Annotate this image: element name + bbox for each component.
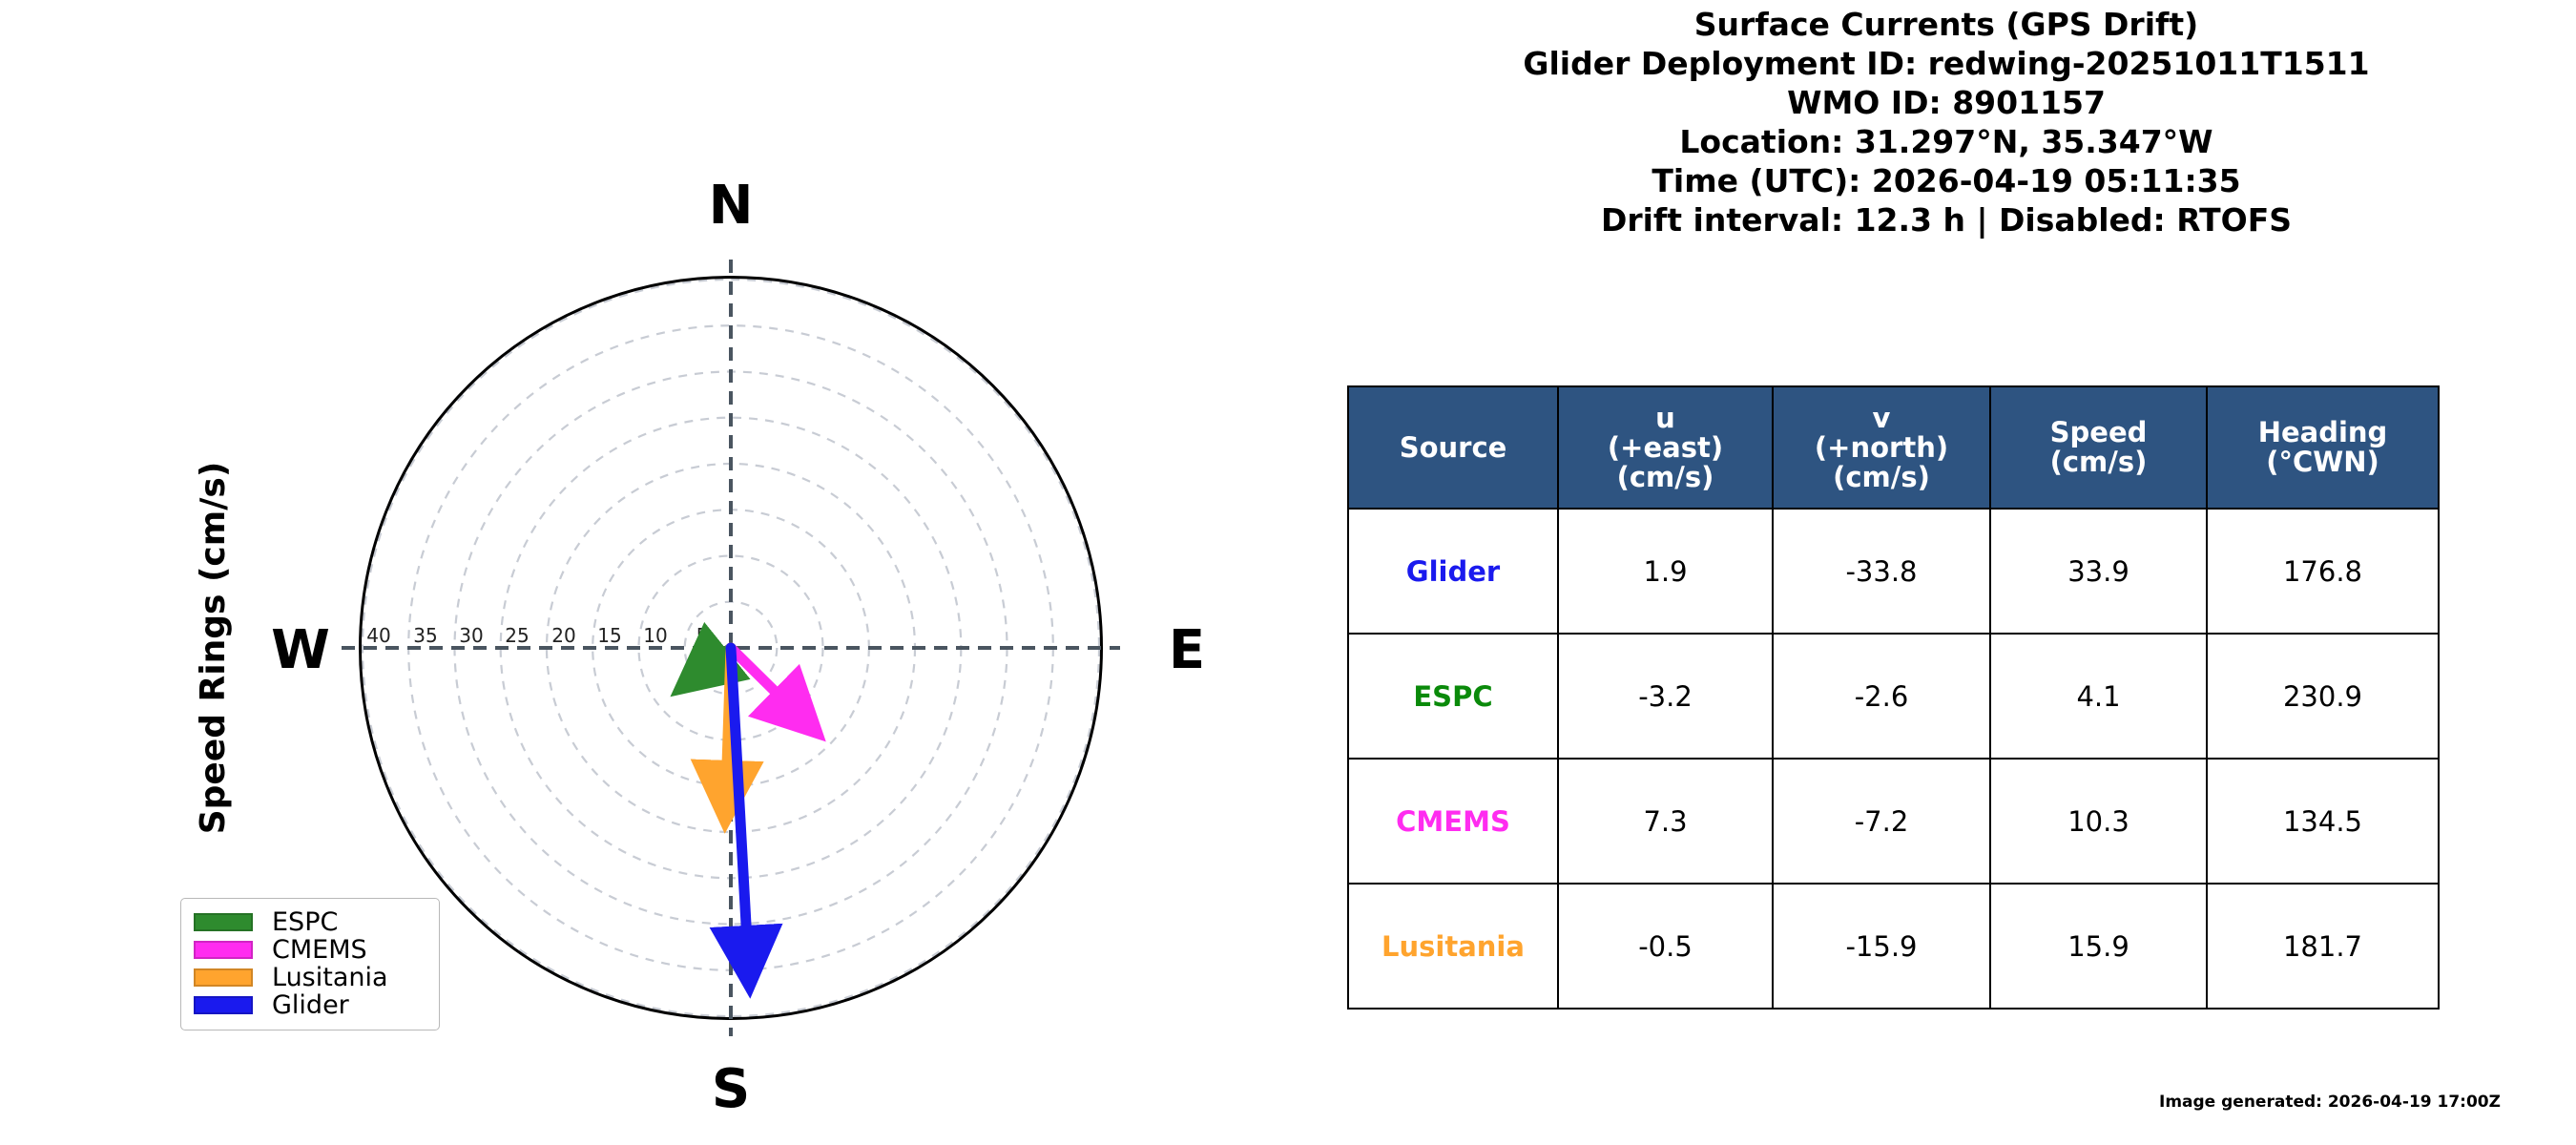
column-header-v-sub1: (+north) — [1776, 433, 1987, 463]
radial-tick-20: 20 — [551, 624, 575, 647]
location-line: Location: 31.297°N, 35.347°W — [1326, 127, 2566, 157]
column-header-heading[interactable]: Heading (°CWN) — [2207, 386, 2439, 509]
table-header-row: Source u (+east) (cm/s) v (+north) (cm/s… — [1348, 386, 2439, 509]
radial-tick-30: 30 — [459, 624, 483, 647]
column-header-u-label: u — [1561, 404, 1770, 433]
table-row: Glider 1.9 -33.8 33.9 176.8 — [1348, 509, 2439, 634]
column-header-source-label: Source — [1351, 433, 1555, 463]
column-header-source[interactable]: Source — [1348, 386, 1558, 509]
column-header-speed[interactable]: Speed (cm/s) — [1990, 386, 2207, 509]
row-cmems-u: 7.3 — [1558, 759, 1773, 884]
compass-label-south: S — [712, 1058, 750, 1120]
row-espc-heading: 230.9 — [2207, 634, 2439, 759]
deployment-id-line: Glider Deployment ID: redwing-20251011T1… — [1326, 49, 2566, 79]
table-row: ESPC -3.2 -2.6 4.1 230.9 — [1348, 634, 2439, 759]
radial-tick-15: 15 — [597, 624, 621, 647]
wmo-id-line: WMO ID: 8901157 — [1326, 88, 2566, 118]
legend-item-lusitania[interactable]: Lusitania — [194, 964, 426, 990]
column-header-v-label: v — [1776, 404, 1987, 433]
legend-label-cmems: CMEMS — [272, 937, 367, 963]
column-header-heading-label: Heading — [2210, 418, 2436, 448]
legend-swatch-cmems — [194, 941, 253, 959]
radial-tick-labels: 40 35 30 25 20 15 10 5 — [366, 624, 708, 647]
row-source-cmems: CMEMS — [1348, 759, 1558, 884]
column-header-v[interactable]: v (+north) (cm/s) — [1773, 386, 1990, 509]
vector-arrow-glider — [731, 648, 748, 959]
image-generated-note: Image generated: 2026-04-19 17:00Z — [2159, 1093, 2501, 1112]
legend-item-glider[interactable]: Glider — [194, 991, 426, 1018]
row-lusitania-heading: 181.7 — [2207, 884, 2439, 1009]
legend-swatch-lusitania — [194, 968, 253, 987]
radial-tick-10: 10 — [643, 624, 667, 647]
page-title: Surface Currents (GPS Drift) — [1326, 10, 2566, 40]
column-header-u-sub1: (+east) — [1561, 433, 1770, 463]
compass-label-west: W — [271, 619, 330, 681]
current-vectors — [701, 648, 798, 959]
row-lusitania-v: -15.9 — [1773, 884, 1990, 1009]
row-espc-v: -2.6 — [1773, 634, 1990, 759]
row-lusitania-speed: 15.9 — [1990, 884, 2207, 1009]
column-header-v-sub2: (cm/s) — [1776, 463, 1987, 492]
time-utc-line: Time (UTC): 2026-04-19 05:11:35 — [1326, 166, 2566, 197]
row-lusitania-u: -0.5 — [1558, 884, 1773, 1009]
radial-tick-5: 5 — [696, 624, 709, 647]
column-header-u[interactable]: u (+east) (cm/s) — [1558, 386, 1773, 509]
currents-summary-table: Source u (+east) (cm/s) v (+north) (cm/s… — [1347, 385, 2440, 1010]
vector-arrow-cmems — [731, 648, 798, 714]
radial-axis-title: Speed Rings (cm/s) — [194, 462, 233, 835]
legend-label-lusitania: Lusitania — [272, 965, 388, 990]
polar-plot-panel: N E S W 40 35 30 25 20 15 10 5 Speed Rin… — [0, 0, 1317, 1145]
row-cmems-heading: 134.5 — [2207, 759, 2439, 884]
row-cmems-v: -7.2 — [1773, 759, 1990, 884]
radial-tick-40: 40 — [366, 624, 390, 647]
legend-item-espc[interactable]: ESPC — [194, 908, 426, 935]
column-header-heading-sub1: (°CWN) — [2210, 448, 2436, 477]
row-espc-speed: 4.1 — [1990, 634, 2207, 759]
legend-label-espc: ESPC — [272, 909, 338, 935]
row-source-espc: ESPC — [1348, 634, 1558, 759]
row-espc-u: -3.2 — [1558, 634, 1773, 759]
legend-swatch-glider — [194, 996, 253, 1014]
column-header-speed-label: Speed — [1993, 418, 2204, 448]
radial-tick-25: 25 — [505, 624, 529, 647]
column-header-u-sub2: (cm/s) — [1561, 463, 1770, 492]
legend-swatch-espc — [194, 913, 253, 931]
drift-interval-line: Drift interval: 12.3 h | Disabled: RTOFS — [1326, 205, 2566, 236]
row-glider-v: -33.8 — [1773, 509, 1990, 634]
row-glider-u: 1.9 — [1558, 509, 1773, 634]
header-info-block: Surface Currents (GPS Drift) Glider Depl… — [1326, 10, 2566, 244]
table-row: CMEMS 7.3 -7.2 10.3 134.5 — [1348, 759, 2439, 884]
table-row: Lusitania -0.5 -15.9 15.9 181.7 — [1348, 884, 2439, 1009]
row-glider-heading: 176.8 — [2207, 509, 2439, 634]
radial-tick-35: 35 — [413, 624, 437, 647]
row-source-glider: Glider — [1348, 509, 1558, 634]
compass-label-north: N — [709, 175, 754, 237]
column-header-speed-sub1: (cm/s) — [1993, 448, 2204, 477]
legend-label-glider: Glider — [272, 992, 349, 1018]
row-cmems-speed: 10.3 — [1990, 759, 2207, 884]
chart-legend: ESPC CMEMS Lusitania Glider — [180, 898, 440, 1030]
legend-item-cmems[interactable]: CMEMS — [194, 936, 426, 963]
row-source-lusitania: Lusitania — [1348, 884, 1558, 1009]
compass-label-east: E — [1169, 619, 1205, 681]
row-glider-speed: 33.9 — [1990, 509, 2207, 634]
